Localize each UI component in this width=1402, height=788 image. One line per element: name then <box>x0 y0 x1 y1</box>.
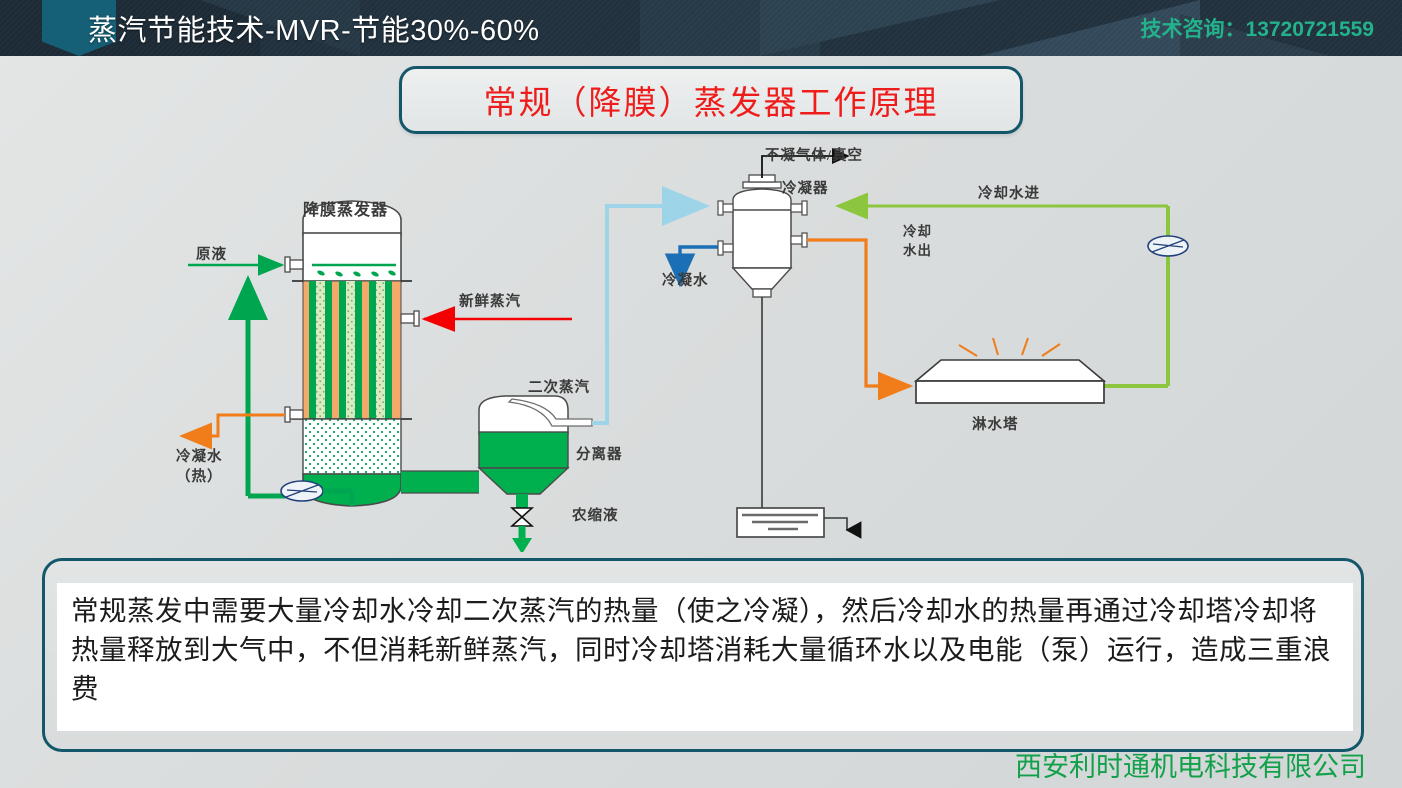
section-title-text: 常规（降膜）蒸发器工作原理 <box>484 76 939 124</box>
slide-canvas: 蒸汽节能技术-MVR-节能30%-60% 技术咨询：13720721559 常规… <box>0 0 1402 788</box>
label-concentrate: 农缩液 <box>572 504 619 525</box>
label-cooling-tower: 淋水塔 <box>972 413 1019 434</box>
label-feed: 原液 <box>196 243 227 264</box>
slide-header: 蒸汽节能技术-MVR-节能30%-60% 技术咨询：13720721559 <box>0 0 1402 56</box>
footer-company-name: 西安利时通机电科技有限公司 <box>1015 745 1366 784</box>
summary-text: 常规蒸发中需要大量冷却水冷却二次蒸汽的热量（使之冷凝），然后冷却水的热量再通过冷… <box>71 591 1339 708</box>
label-condensate: 冷凝水 <box>662 269 709 290</box>
label-condenser: 冷凝器 <box>782 177 829 198</box>
summary-textbox: 常规蒸发中需要大量冷却水冷却二次蒸汽的热量（使之冷凝），然后冷却水的热量再通过冷… <box>42 558 1364 752</box>
process-flow-diagram: 降膜蒸发器 原液 新鲜蒸汽 冷凝水 （热） 二次蒸汽 分离器 农缩液 不凝气体/… <box>0 138 1402 552</box>
label-cooling-water-out-line2: 水出 <box>903 239 932 259</box>
page-title: 蒸汽节能技术-MVR-节能30%-60% <box>88 7 540 49</box>
summary-textbox-inner: 常规蒸发中需要大量冷却水冷却二次蒸汽的热量（使之冷凝），然后冷却水的热量再通过冷… <box>57 583 1353 731</box>
label-secondary-steam: 二次蒸汽 <box>528 376 590 397</box>
label-separator: 分离器 <box>576 443 623 464</box>
label-hot-condensate-line2: （热） <box>176 465 223 486</box>
section-title-box: 常规（降膜）蒸发器工作原理 <box>399 66 1023 134</box>
label-noncondensable-gas: 不凝气体/真空 <box>765 144 863 165</box>
label-hot-condensate-line1: 冷凝水 <box>176 445 223 466</box>
contact-phone: 技术咨询：13720721559 <box>1141 13 1374 43</box>
label-evaporator: 降膜蒸发器 <box>303 196 388 220</box>
label-cooling-water-in: 冷却水进 <box>978 182 1040 203</box>
label-cooling-water-out-line1: 冷却 <box>903 220 932 240</box>
label-fresh-steam: 新鲜蒸汽 <box>459 290 521 311</box>
